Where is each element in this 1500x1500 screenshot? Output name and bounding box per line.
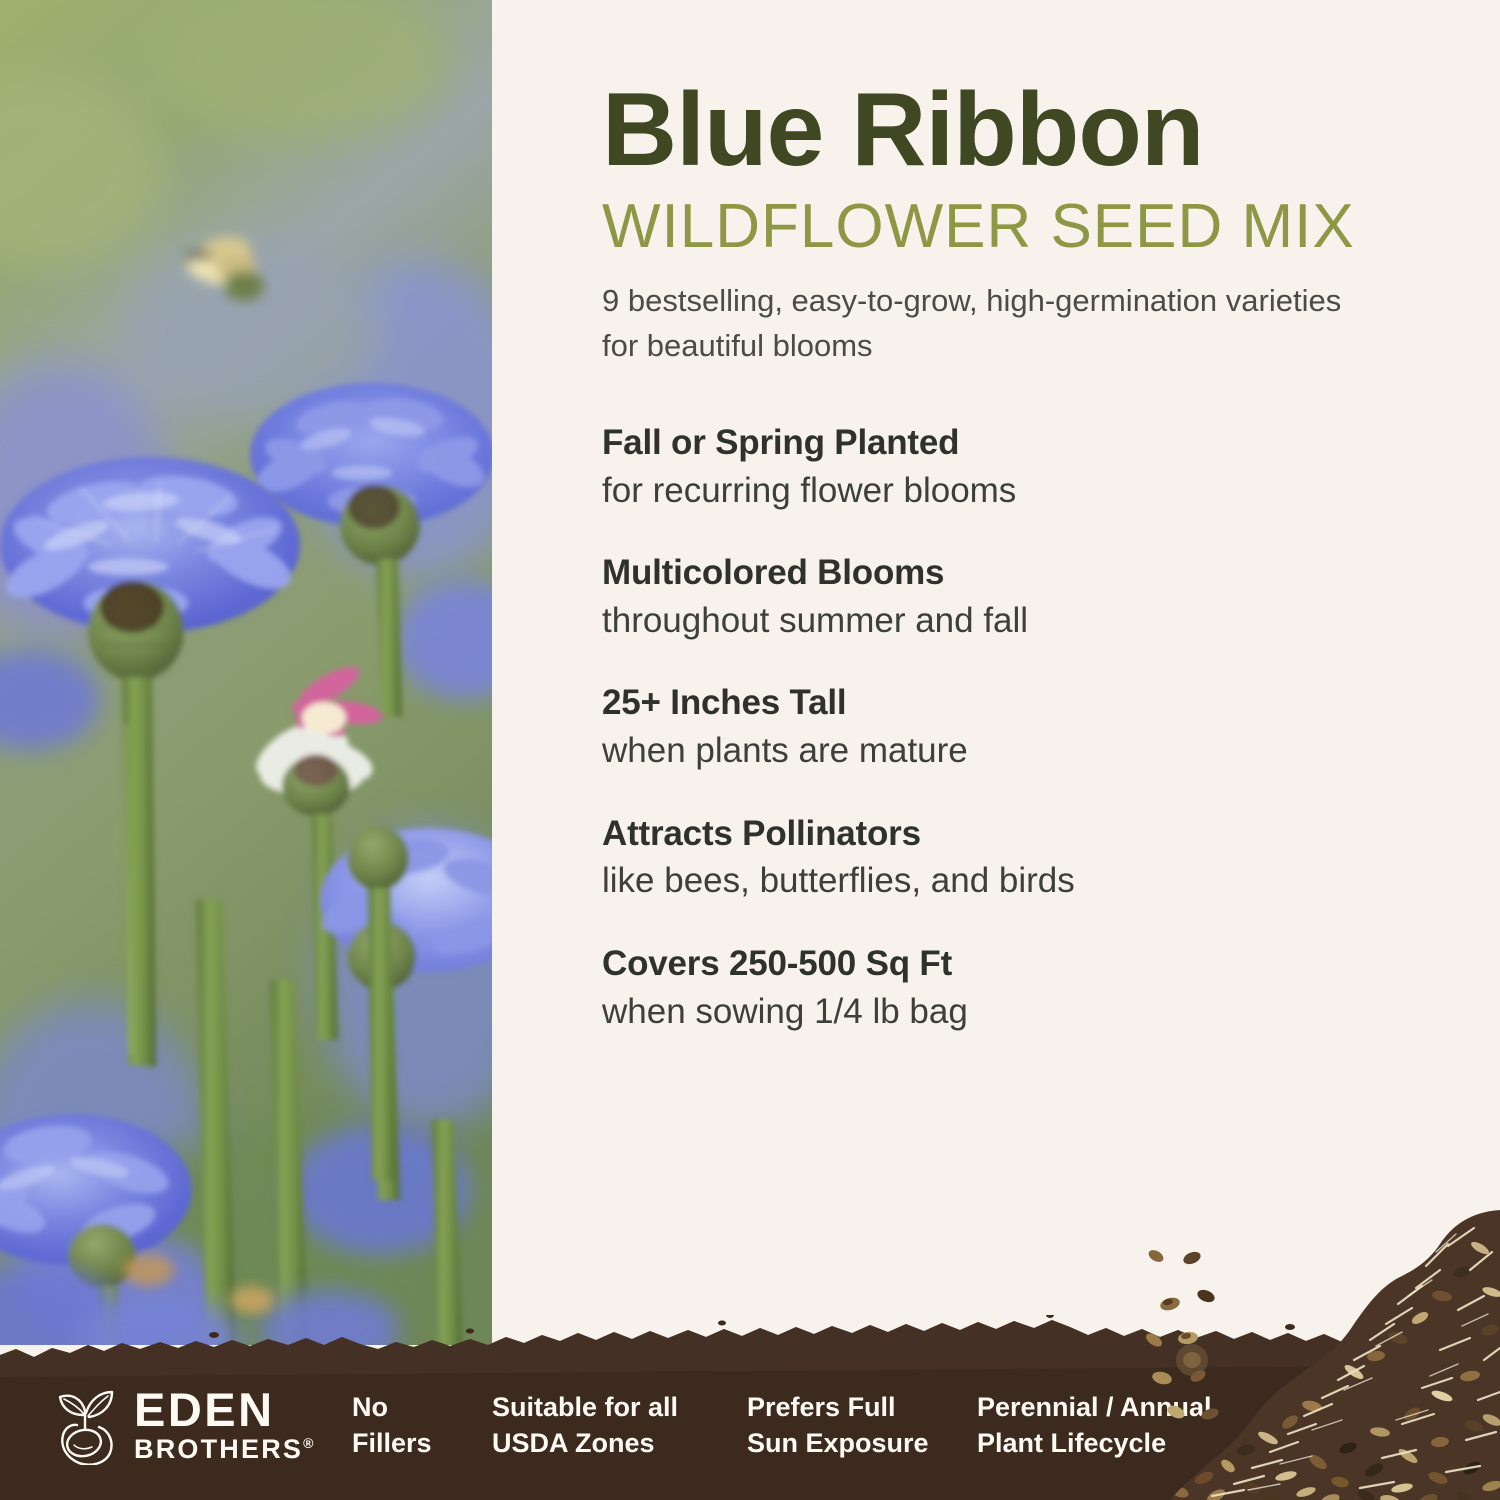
footer-callout: No Fillers: [352, 1389, 492, 1462]
footer-callout: Prefers Full Sun Exposure: [747, 1389, 977, 1462]
feature-subtext: throughout summer and fall: [602, 598, 1500, 644]
feature-heading: Multicolored Blooms: [602, 551, 1500, 595]
infographic-canvas: Blue Ribbon WILDFLOWER SEED MIX 9 bestse…: [0, 0, 1500, 1500]
feature-list: Fall or Spring Planted for recurring flo…: [602, 421, 1500, 1034]
brand-subname: BROTHERS®: [134, 1435, 313, 1463]
callout-line-2: Plant Lifecycle: [977, 1425, 1247, 1461]
callout-line-2: USDA Zones: [492, 1425, 747, 1461]
callout-line-1: Prefers Full: [747, 1389, 977, 1425]
feature-item: Multicolored Blooms throughout summer an…: [602, 551, 1500, 643]
product-photo: [0, 0, 492, 1345]
callout-line-1: Perennial / Annual: [977, 1389, 1247, 1425]
feature-item: 25+ Inches Tall when plants are mature: [602, 681, 1500, 773]
brand-logo[interactable]: EDEN BROTHERS®: [52, 1385, 352, 1465]
callout-line-2: Fillers: [352, 1425, 492, 1461]
feature-subtext: when plants are mature: [602, 728, 1500, 774]
feature-heading: Attracts Pollinators: [602, 812, 1500, 856]
feature-item: Covers 250-500 Sq Ft when sowing 1/4 lb …: [602, 942, 1500, 1034]
brand-wordmark: EDEN BROTHERS®: [134, 1387, 313, 1463]
feature-subtext: like bees, butterflies, and birds: [602, 858, 1500, 904]
feature-subtext: for recurring flower blooms: [602, 468, 1500, 514]
page-title: Blue Ribbon: [602, 78, 1500, 182]
feature-item: Attracts Pollinators like bees, butterfl…: [602, 812, 1500, 904]
product-info-panel: Blue Ribbon WILDFLOWER SEED MIX 9 bestse…: [492, 0, 1500, 1345]
footer-callout: Suitable for all USDA Zones: [492, 1389, 747, 1462]
registered-mark: ®: [303, 1435, 313, 1451]
brand-name: EDEN: [134, 1387, 313, 1433]
callout-line-1: No: [352, 1389, 492, 1425]
product-subtitle: WILDFLOWER SEED MIX: [602, 194, 1500, 259]
callout-line-2: Sun Exposure: [747, 1425, 977, 1461]
footer-bar: EDEN BROTHERS® No Fillers Suitable for a…: [0, 1350, 1500, 1500]
product-description: 9 bestselling, easy-to-grow, high-germin…: [602, 279, 1362, 369]
feature-heading: Fall or Spring Planted: [602, 421, 1500, 465]
feature-subtext: when sowing 1/4 lb bag: [602, 989, 1500, 1035]
footer-callout-list: No Fillers Suitable for all USDA Zones P…: [352, 1389, 1500, 1462]
feature-heading: Covers 250-500 Sq Ft: [602, 942, 1500, 986]
feature-heading: 25+ Inches Tall: [602, 681, 1500, 725]
callout-line-1: Suitable for all: [492, 1389, 747, 1425]
feature-item: Fall or Spring Planted for recurring flo…: [602, 421, 1500, 513]
footer-callout: Perennial / Annual Plant Lifecycle: [977, 1389, 1247, 1462]
cornflower-photo-illustration: [0, 0, 492, 1345]
brand-subname-text: BROTHERS: [134, 1434, 303, 1464]
sprout-seed-icon: [52, 1385, 118, 1465]
